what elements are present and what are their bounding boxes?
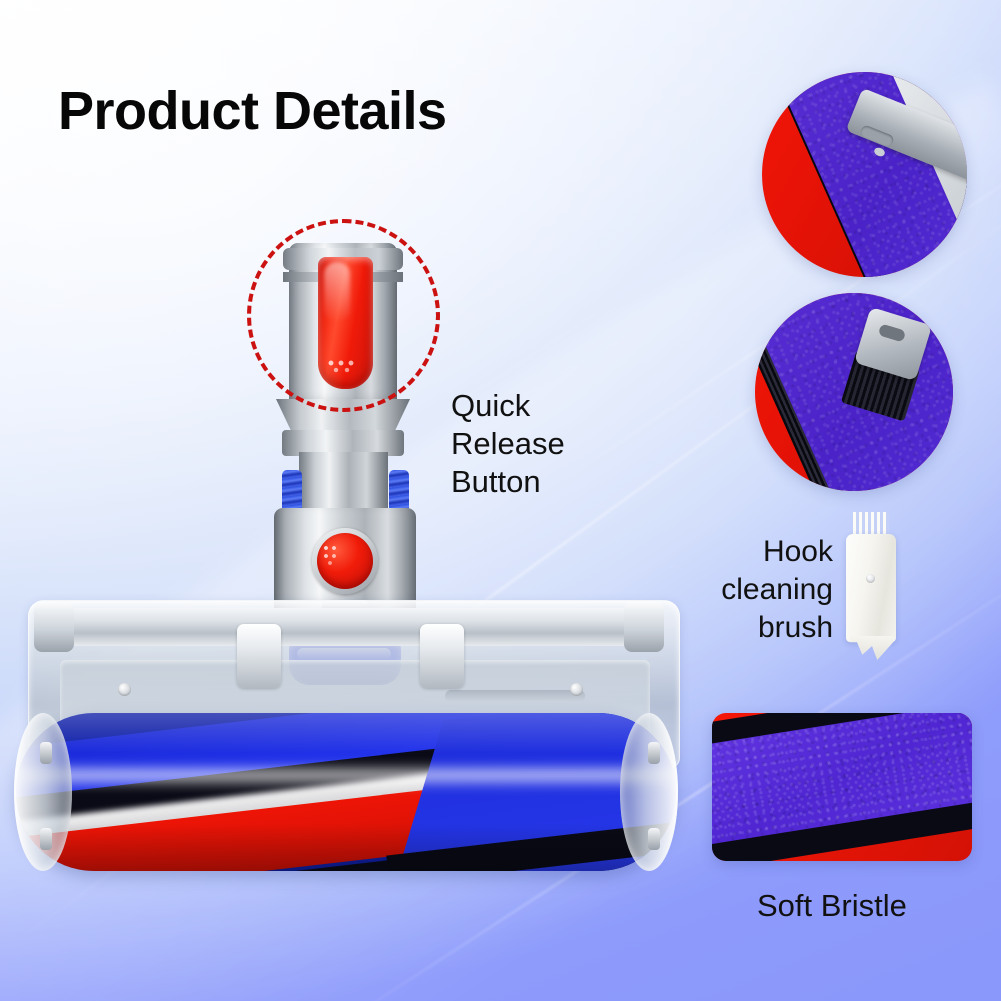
hook-label-line-3: brush	[721, 609, 833, 647]
joint-release-button-texture	[322, 544, 342, 566]
quick-release-label-line-1: Quick	[451, 387, 565, 425]
housing-screw-left	[118, 683, 131, 696]
housing-screw-right	[570, 683, 583, 696]
detail-closeup-brush-on-roller	[755, 293, 953, 491]
roller-tab-left-bottom	[40, 828, 52, 850]
roller-mount-left	[237, 624, 281, 688]
hook-brush-hook-end	[850, 636, 894, 660]
product-details-image: Product Details	[0, 0, 1001, 1001]
neck-section	[299, 452, 388, 514]
hook-label-line-2: cleaning	[721, 571, 833, 609]
housing-end-right	[624, 602, 664, 652]
quick-release-highlight-circle	[247, 219, 440, 412]
detail-closeup-tool-on-roller	[762, 72, 967, 277]
housing-slot	[445, 690, 585, 702]
hook-brush-body	[846, 534, 896, 642]
hook-label-line-1: Hook	[721, 533, 833, 571]
hook-cleaning-brush-label: Hook cleaning brush	[721, 533, 833, 647]
housing-end-left	[34, 602, 74, 652]
soft-bristle-swatch-panel	[712, 713, 972, 861]
roller-mount-right	[420, 624, 464, 688]
roller-tab-left-top	[40, 742, 52, 764]
quick-release-label: Quick Release Button	[451, 387, 565, 501]
soft-bristle-label: Soft Bristle	[757, 888, 907, 924]
hook-cleaning-brush-tool	[846, 512, 898, 662]
quick-release-label-line-2: Release	[451, 425, 565, 463]
housing-top-bar	[48, 608, 662, 646]
roller-tab-right-bottom	[648, 828, 660, 850]
roller-tab-right-top	[648, 742, 660, 764]
quick-release-label-line-3: Button	[451, 463, 565, 501]
roller-shading	[16, 713, 676, 871]
soft-roller-brush-bar	[16, 713, 676, 871]
hook-brush-pivot-dot	[866, 574, 875, 583]
